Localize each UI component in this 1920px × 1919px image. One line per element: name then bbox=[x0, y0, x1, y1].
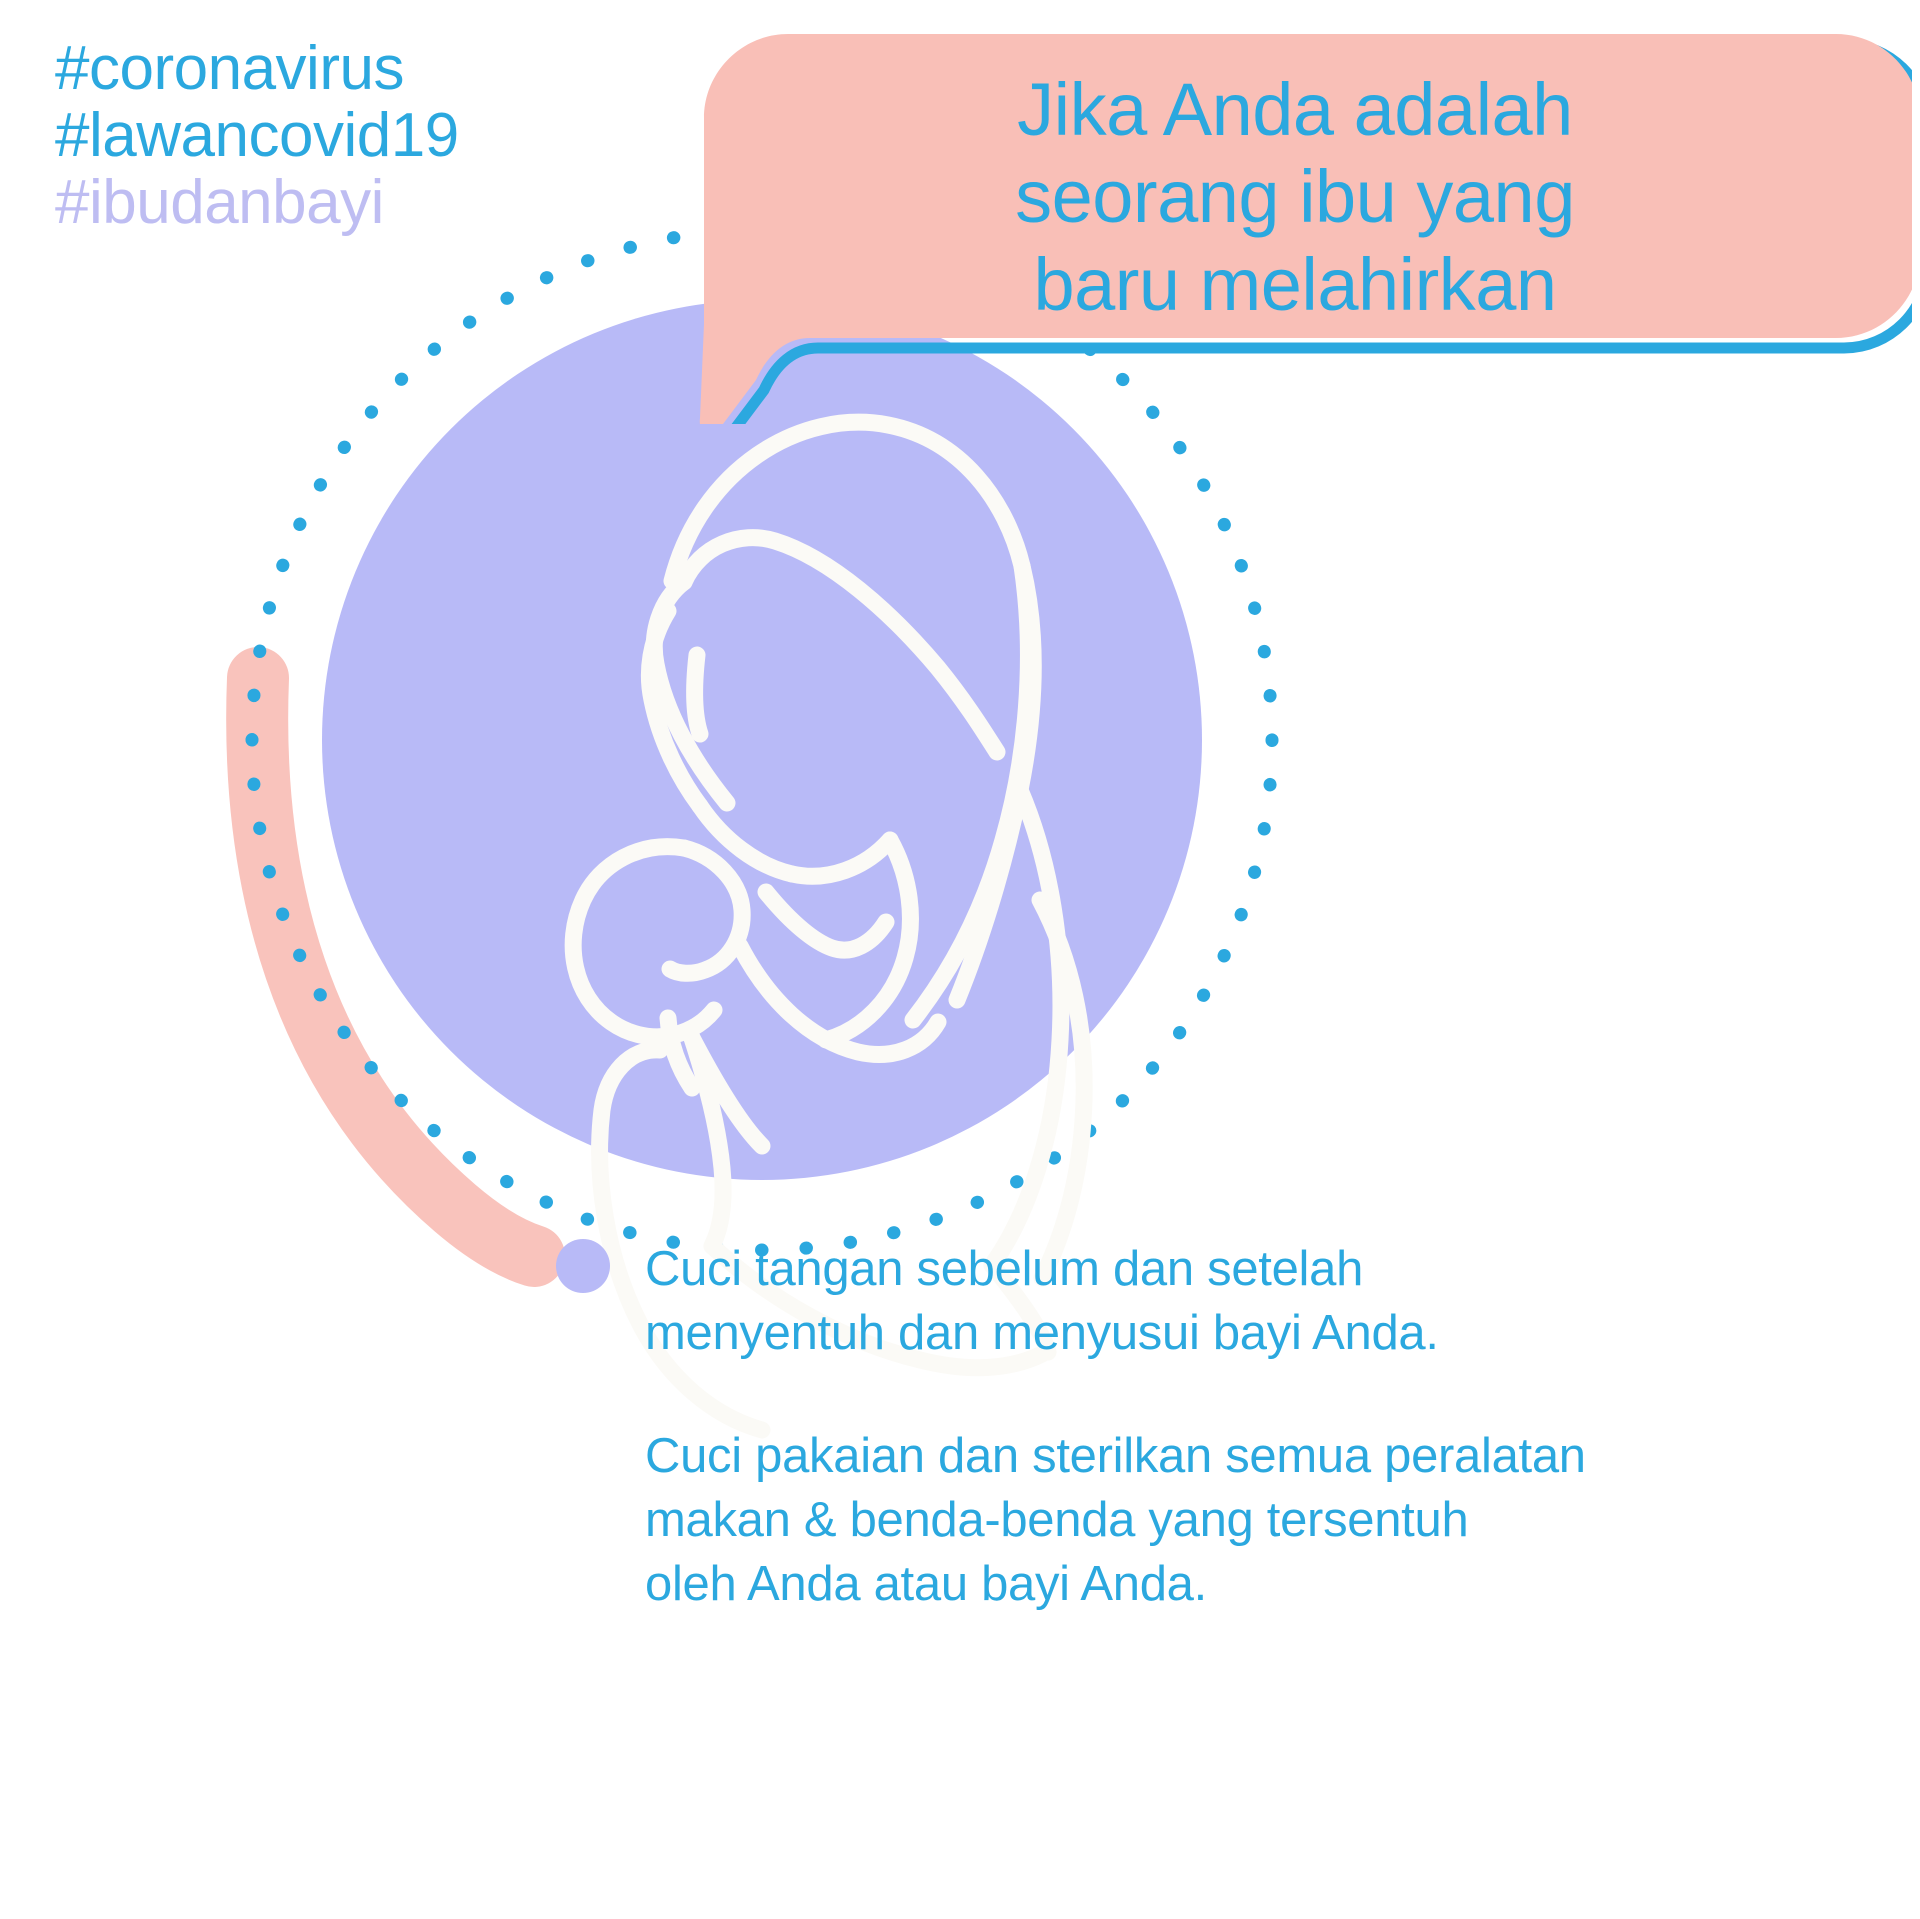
body-p2-line-3: oleh Anda atau bayi Anda. bbox=[645, 1553, 1685, 1617]
speech-bubble: Jika Anda adalah seorang ibu yang baru m… bbox=[690, 24, 1912, 424]
speech-bubble-line-2: seorang ibu yang bbox=[690, 153, 1900, 240]
hashtag-ibudanbayi: #ibudanbayi bbox=[55, 170, 459, 237]
lavender-circle bbox=[322, 300, 1202, 1180]
body-copy: Cuci tangan sebelum dan setelah menyentu… bbox=[645, 1238, 1685, 1616]
speech-bubble-line-1: Jika Anda adalah bbox=[690, 66, 1900, 153]
poster-canvas: #coronavirus #lawancovid19 #ibudanbayi J… bbox=[0, 0, 1920, 1919]
hashtag-coronavirus: #coronavirus bbox=[55, 36, 459, 103]
body-p1-line-2: menyentuh dan menyusui bayi Anda. bbox=[645, 1302, 1685, 1366]
speech-bubble-line-3: baru melahirkan bbox=[690, 241, 1900, 328]
hashtag-lawancovid19: #lawancovid19 bbox=[55, 103, 459, 170]
body-paragraph-2: Cuci pakaian dan sterilkan semua peralat… bbox=[645, 1425, 1685, 1616]
hashtag-block: #coronavirus #lawancovid19 #ibudanbayi bbox=[55, 36, 459, 237]
speech-bubble-text: Jika Anda adalah seorang ibu yang baru m… bbox=[690, 66, 1900, 328]
body-p1-line-1: Cuci tangan sebelum dan setelah bbox=[645, 1238, 1685, 1302]
body-paragraph-1: Cuci tangan sebelum dan setelah menyentu… bbox=[645, 1238, 1685, 1365]
body-p2-line-2: makan & benda-benda yang tersentuh bbox=[645, 1489, 1685, 1553]
body-p2-line-1: Cuci pakaian dan sterilkan semua peralat… bbox=[645, 1425, 1685, 1489]
purple-bullet-dot bbox=[556, 1239, 610, 1293]
